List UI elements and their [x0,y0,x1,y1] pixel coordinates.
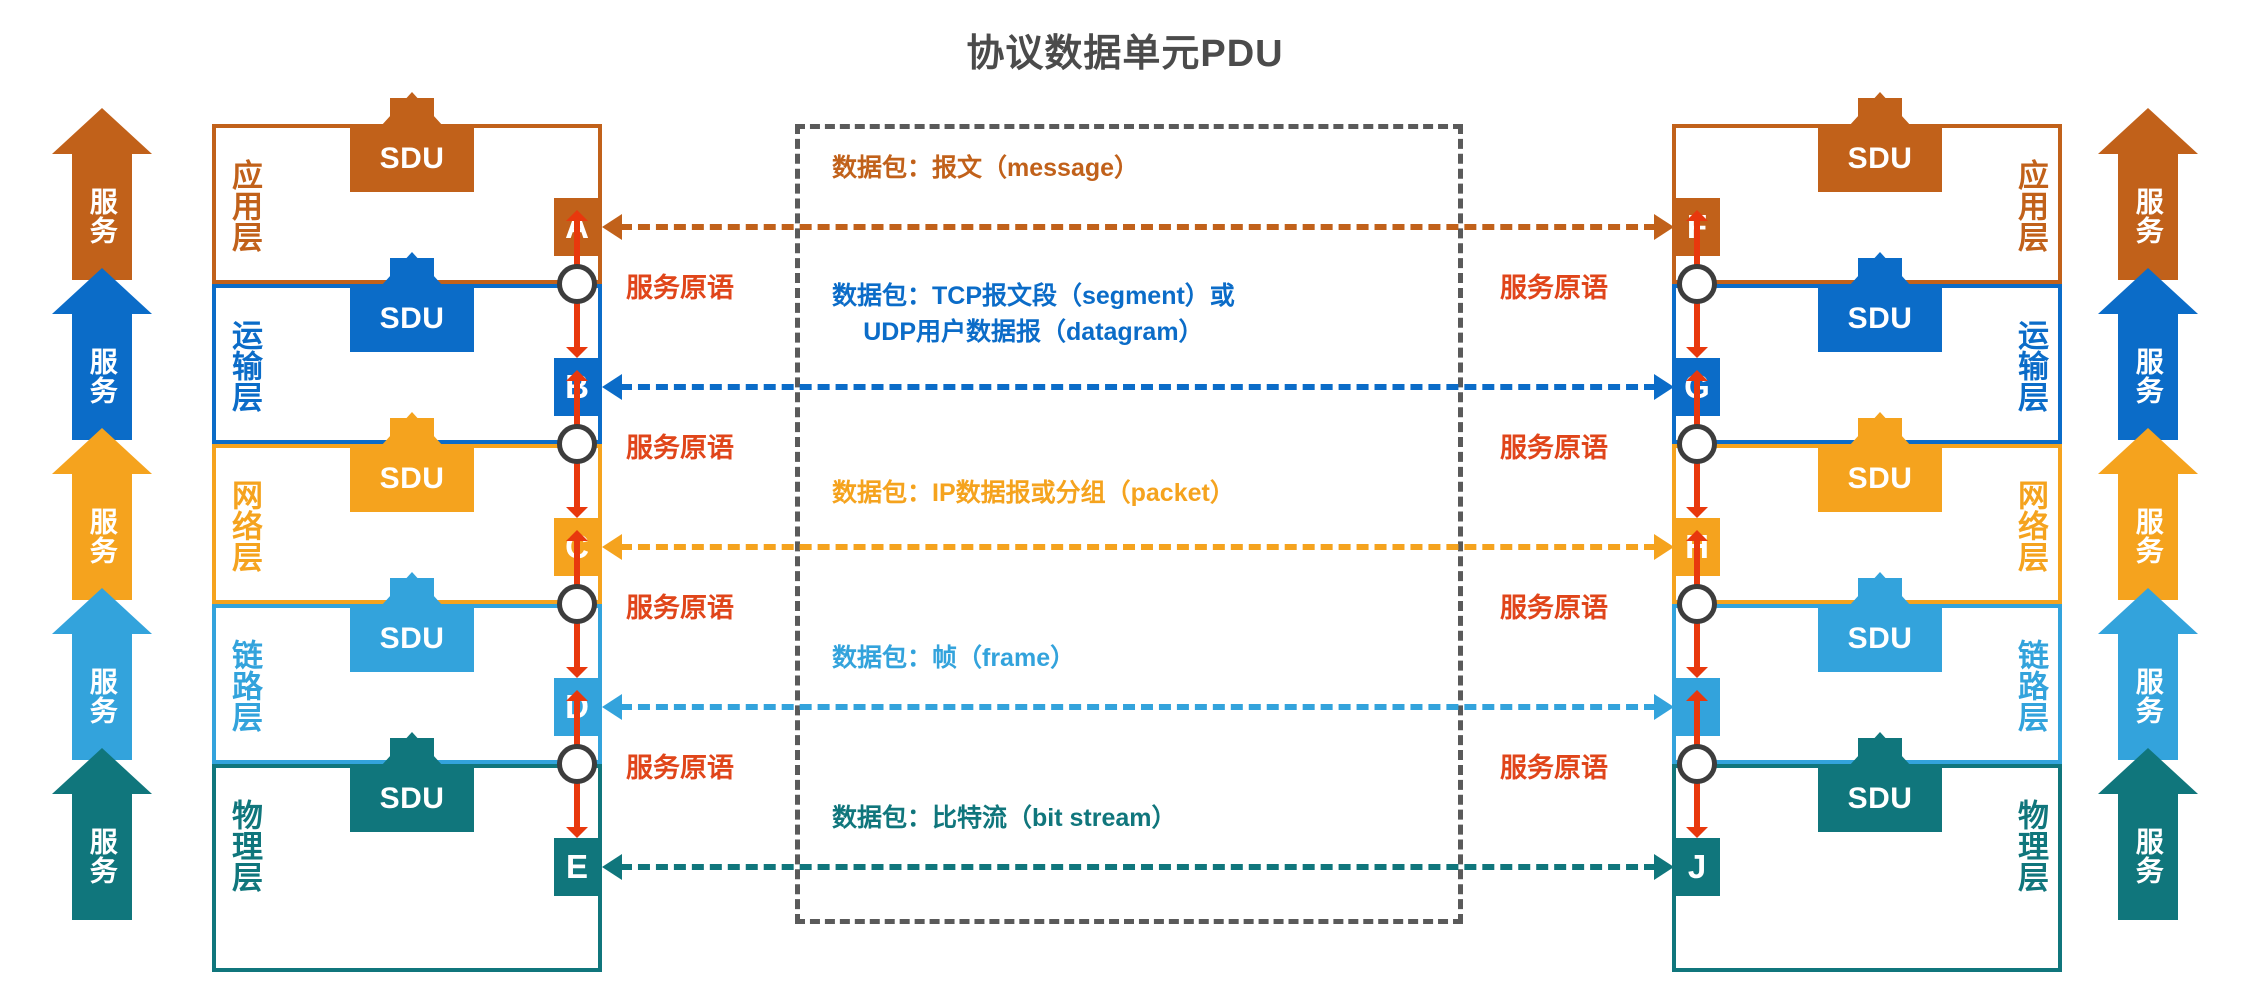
service-arrow-label: 服务 [87,507,116,565]
sdu-label: SDU [350,606,474,672]
service-arrow-shaft: 服务 [2118,632,2178,760]
pdu-label-1: 数据包：TCP报文段（segment）或UDP用户数据报（datagram） [832,278,1235,351]
sap-circle-left-1 [557,264,597,304]
sdu-label: SDU [350,766,474,832]
sap-circle-left-3 [557,584,597,624]
sdu-left-top: SDU [350,92,474,192]
pdu-connector-arrowhead-left-1 [602,374,622,400]
pdu-connector-arrowhead-left-3 [602,694,622,720]
sdu-label: SDU [1818,446,1942,512]
service-arrow-shaft: 服务 [72,152,132,280]
pdu-connector-arrowhead-right-0 [1654,214,1674,240]
service-arrow-label: 服务 [2133,347,2162,405]
service-arrow-head [52,748,152,794]
pdu-connector-arrowhead-right-3 [1654,694,1674,720]
arrow-head-down [1686,827,1708,838]
pdu-connector-B-G [620,384,1656,390]
layer-label-right-链路层: 链路层 [2012,618,2046,752]
service-arrow-right-应用层: 服务 [2098,108,2198,280]
sdu-arrow-neck [1858,738,1902,766]
service-arrow-left-运输层: 服务 [52,268,152,440]
service-arrow-label: 服务 [2133,187,2162,245]
service-arrow-shaft: 服务 [2118,312,2178,440]
service-arrow-right-运输层: 服务 [2098,268,2198,440]
service-arrow-shaft: 服务 [2118,472,2178,600]
service-arrow-left-网络层: 服务 [52,428,152,600]
arrow-head-down [566,507,588,518]
service-arrow-right-物理层: 服务 [2098,748,2198,920]
service-arrow-label: 服务 [87,187,116,245]
sdu-label: SDU [350,126,474,192]
layer-label-right-物理层: 物理层 [2012,778,2046,912]
service-arrow-label: 服务 [2133,827,2162,885]
service-arrow-right-链路层: 服务 [2098,588,2198,760]
layer-label-left-链路层: 链路层 [226,618,260,752]
service-arrow-shaft: 服务 [72,312,132,440]
pdu-label-line2: UDP用户数据报（datagram） [832,314,1235,350]
pdu-connector-arrowhead-left-2 [602,534,622,560]
layer-label-right-应用层: 应用层 [2012,138,2046,272]
service-arrow-head [52,588,152,634]
layer-label-right-运输层: 运输层 [2012,298,2046,432]
layer-label-left-物理层: 物理层 [226,778,260,912]
service-arrow-left-应用层: 服务 [52,108,152,280]
pdu-connector-arrowhead-right-2 [1654,534,1674,560]
pdu-label-line1: 数据包：TCP报文段（segment）或 [832,278,1235,314]
sdu-label: SDU [1818,766,1942,832]
sdu-left-网络层: SDU [350,412,474,512]
sdu-right-运输层: SDU [1818,252,1942,352]
diagram-canvas: 协议数据单元PDU 应用层应用层运输层运输层网络层网络层链路层链路层物理层物理层… [0,0,2249,993]
service-arrow-label: 服务 [87,827,116,885]
sdu-arrow-neck [1858,418,1902,446]
service-arrow-label: 服务 [87,667,116,725]
sap-circle-right-1 [1677,264,1717,304]
arrow-head-down [566,827,588,838]
service-arrow-shaft: 服务 [72,792,132,920]
service-primitive-label-left-4: 服务原语 [626,746,734,785]
letter-box-E: E [554,838,600,896]
sdu-arrow-neck [390,738,434,766]
service-arrow-left-链路层: 服务 [52,588,152,760]
page-title: 协议数据单元PDU [905,22,1345,77]
sdu-label: SDU [350,446,474,512]
pdu-connector-D-I [620,704,1656,710]
sdu-arrow-neck [1858,578,1902,606]
pdu-connector-E-J [620,864,1656,870]
sdu-arrow-neck [390,98,434,126]
service-arrow-head [2098,748,2198,794]
arrow-head-down [566,667,588,678]
sdu-label: SDU [1818,126,1942,192]
service-arrow-shaft: 服务 [72,472,132,600]
sdu-arrow-neck [390,258,434,286]
sdu-left-运输层: SDU [350,252,474,352]
pdu-label-2: 数据包：IP数据报或分组（packet） [832,475,1235,511]
service-arrow-label: 服务 [2133,667,2162,725]
pdu-connector-arrowhead-right-1 [1654,374,1674,400]
sap-circle-right-4 [1677,744,1717,784]
arrow-head-down [1686,347,1708,358]
service-arrow-head [52,268,152,314]
service-arrow-head [2098,588,2198,634]
layer-label-left-应用层: 应用层 [226,138,260,272]
pdu-label-3: 数据包：帧（frame） [832,640,1075,676]
sdu-arrow-neck [1858,258,1902,286]
pdu-connector-C-H [620,544,1656,550]
service-primitive-label-right-4: 服务原语 [1500,746,1608,785]
pdu-label-4: 数据包：比特流（bit stream） [832,800,1176,836]
sdu-right-网络层: SDU [1818,412,1942,512]
service-primitive-label-left-3: 服务原语 [626,586,734,625]
arrow-head-down [566,347,588,358]
service-arrow-label: 服务 [87,347,116,405]
letter-box-J: J [1674,838,1720,896]
arrow-head-down [1686,667,1708,678]
service-arrow-shaft: 服务 [2118,152,2178,280]
service-arrow-head [2098,428,2198,474]
service-arrow-head [52,428,152,474]
sap-circle-right-3 [1677,584,1717,624]
sdu-arrow-neck [390,418,434,446]
service-arrow-shaft: 服务 [2118,792,2178,920]
sdu-label: SDU [1818,606,1942,672]
sdu-arrow-neck [1858,98,1902,126]
sdu-right-链路层: SDU [1818,572,1942,672]
sdu-label: SDU [350,286,474,352]
service-arrow-label: 服务 [2133,507,2162,565]
sdu-left-物理层: SDU [350,732,474,832]
service-arrow-head [52,108,152,154]
service-primitive-label-left-2: 服务原语 [626,426,734,465]
layer-label-left-运输层: 运输层 [226,298,260,432]
pdu-connector-arrowhead-left-4 [602,854,622,880]
service-arrow-left-物理层: 服务 [52,748,152,920]
pdu-label-0: 数据包：报文（message） [832,150,1139,186]
sdu-label: SDU [1818,286,1942,352]
sdu-left-链路层: SDU [350,572,474,672]
service-arrow-right-网络层: 服务 [2098,428,2198,600]
sap-circle-right-2 [1677,424,1717,464]
service-primitive-label-right-1: 服务原语 [1500,266,1608,305]
service-arrow-head [2098,268,2198,314]
pdu-connector-arrowhead-right-4 [1654,854,1674,880]
layer-label-right-网络层: 网络层 [2012,458,2046,592]
sdu-arrow-neck [390,578,434,606]
sap-circle-left-2 [557,424,597,464]
service-primitive-label-right-2: 服务原语 [1500,426,1608,465]
service-primitive-label-right-3: 服务原语 [1500,586,1608,625]
pdu-connector-arrowhead-left-0 [602,214,622,240]
pdu-connector-A-F [620,224,1656,230]
arrow-head-down [1686,507,1708,518]
service-arrow-shaft: 服务 [72,632,132,760]
sdu-right-top: SDU [1818,92,1942,192]
service-arrow-head [2098,108,2198,154]
sdu-right-物理层: SDU [1818,732,1942,832]
layer-label-left-网络层: 网络层 [226,458,260,592]
sap-circle-left-4 [557,744,597,784]
service-primitive-label-left-1: 服务原语 [626,266,734,305]
